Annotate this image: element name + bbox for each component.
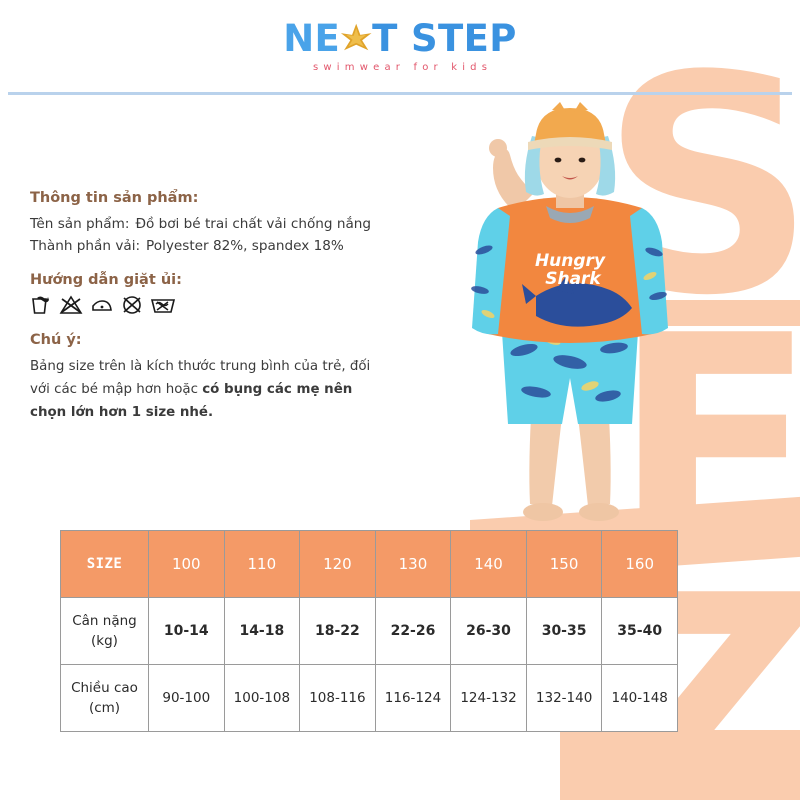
- header-size-100: 100: [149, 531, 225, 598]
- weight-140: 26-30: [451, 598, 527, 665]
- weight-130: 22-26: [375, 598, 451, 665]
- do-not-bleach-icon: [59, 295, 83, 315]
- table-header-row: SIZE 100 110 120 130 140 150 160: [61, 531, 678, 598]
- header-size-label: SIZE: [61, 531, 149, 598]
- header-size-140: 140: [451, 531, 527, 598]
- hand-wash-icon: [30, 295, 52, 315]
- row-label-height-line1: Chiều cao: [61, 678, 148, 698]
- header-size-130: 130: [375, 531, 451, 598]
- row-label-weight-line1: Cân nặng: [61, 611, 148, 631]
- weight-160: 35-40: [602, 598, 678, 665]
- product-info-block: Thông tin sản phẩm: Tên sản phẩm: Đồ bơi…: [30, 190, 410, 424]
- header-size-160: 160: [602, 531, 678, 598]
- note-heading: Chú ý:: [30, 332, 410, 348]
- page-header: NE T STEP swimwear for kids: [0, 0, 800, 93]
- logo-text-part2: T STEP: [372, 20, 517, 57]
- size-table: SIZE 100 110 120 130 140 150 160 Cân nặn…: [60, 530, 678, 732]
- starfish-x-icon: [338, 21, 374, 57]
- care-icon-row: [30, 295, 410, 315]
- product-fabric-line: Thành phần vải: Polyester 82%, spandex 1…: [30, 235, 410, 257]
- row-label-weight: Cân nặng (kg): [61, 598, 149, 665]
- logo-text-part1: NE: [283, 20, 340, 57]
- product-fabric-label: Thành phần vải:: [30, 235, 140, 257]
- weight-150: 30-35: [526, 598, 602, 665]
- size-chart: SIZE 100 110 120 130 140 150 160 Cân nặn…: [60, 530, 678, 732]
- header-divider: [8, 92, 792, 95]
- height-160: 140-148: [602, 665, 678, 732]
- shirt-graphic-text: Hungry: [535, 251, 606, 271]
- weight-110: 14-18: [224, 598, 300, 665]
- height-110: 100-108: [224, 665, 300, 732]
- logo-wordmark: NE T STEP: [283, 20, 517, 57]
- product-info-heading: Thông tin sản phẩm:: [30, 190, 410, 206]
- bg-band-bottom: [560, 730, 800, 800]
- height-130: 116-124: [375, 665, 451, 732]
- table-row-height: Chiều cao (cm) 90-100 100-108 108-116 11…: [61, 665, 678, 732]
- row-label-height: Chiều cao (cm): [61, 665, 149, 732]
- logo-tagline: swimwear for kids: [283, 62, 517, 73]
- row-label-weight-line2: (kg): [61, 631, 148, 651]
- table-row-weight: Cân nặng (kg) 10-14 14-18 18-22 22-26 26…: [61, 598, 678, 665]
- machine-wash-icon: [150, 295, 176, 315]
- header-size-120: 120: [300, 531, 376, 598]
- weight-100: 10-14: [149, 598, 225, 665]
- header-size-150: 150: [526, 531, 602, 598]
- svg-text:Shark: Shark: [545, 269, 602, 289]
- do-not-dry-clean-icon: [121, 295, 143, 315]
- product-name-line: Tên sản phẩm: Đồ bơi bé trai chất vải ch…: [30, 213, 410, 235]
- iron-low-heat-icon: [90, 295, 114, 315]
- height-120: 108-116: [300, 665, 376, 732]
- model-photo: Hungry Shark: [440, 100, 700, 540]
- page-root: S E Z NE T STEP swimwear for kids: [0, 0, 800, 800]
- note-body: Bảng size trên là kích thước trung bình …: [30, 355, 375, 424]
- product-name-label: Tên sản phẩm:: [30, 213, 129, 235]
- product-name-value: Đồ bơi bé trai chất vải chống nắng: [135, 213, 371, 235]
- height-140: 124-132: [451, 665, 527, 732]
- weight-120: 18-22: [300, 598, 376, 665]
- care-heading: Hướng dẫn giặt ủi:: [30, 272, 410, 288]
- product-fabric-value: Polyester 82%, spandex 18%: [146, 235, 344, 257]
- header-size-110: 110: [224, 531, 300, 598]
- height-150: 132-140: [526, 665, 602, 732]
- height-100: 90-100: [149, 665, 225, 732]
- brand-logo[interactable]: NE T STEP swimwear for kids: [283, 20, 517, 73]
- row-label-height-line2: (cm): [61, 698, 148, 718]
